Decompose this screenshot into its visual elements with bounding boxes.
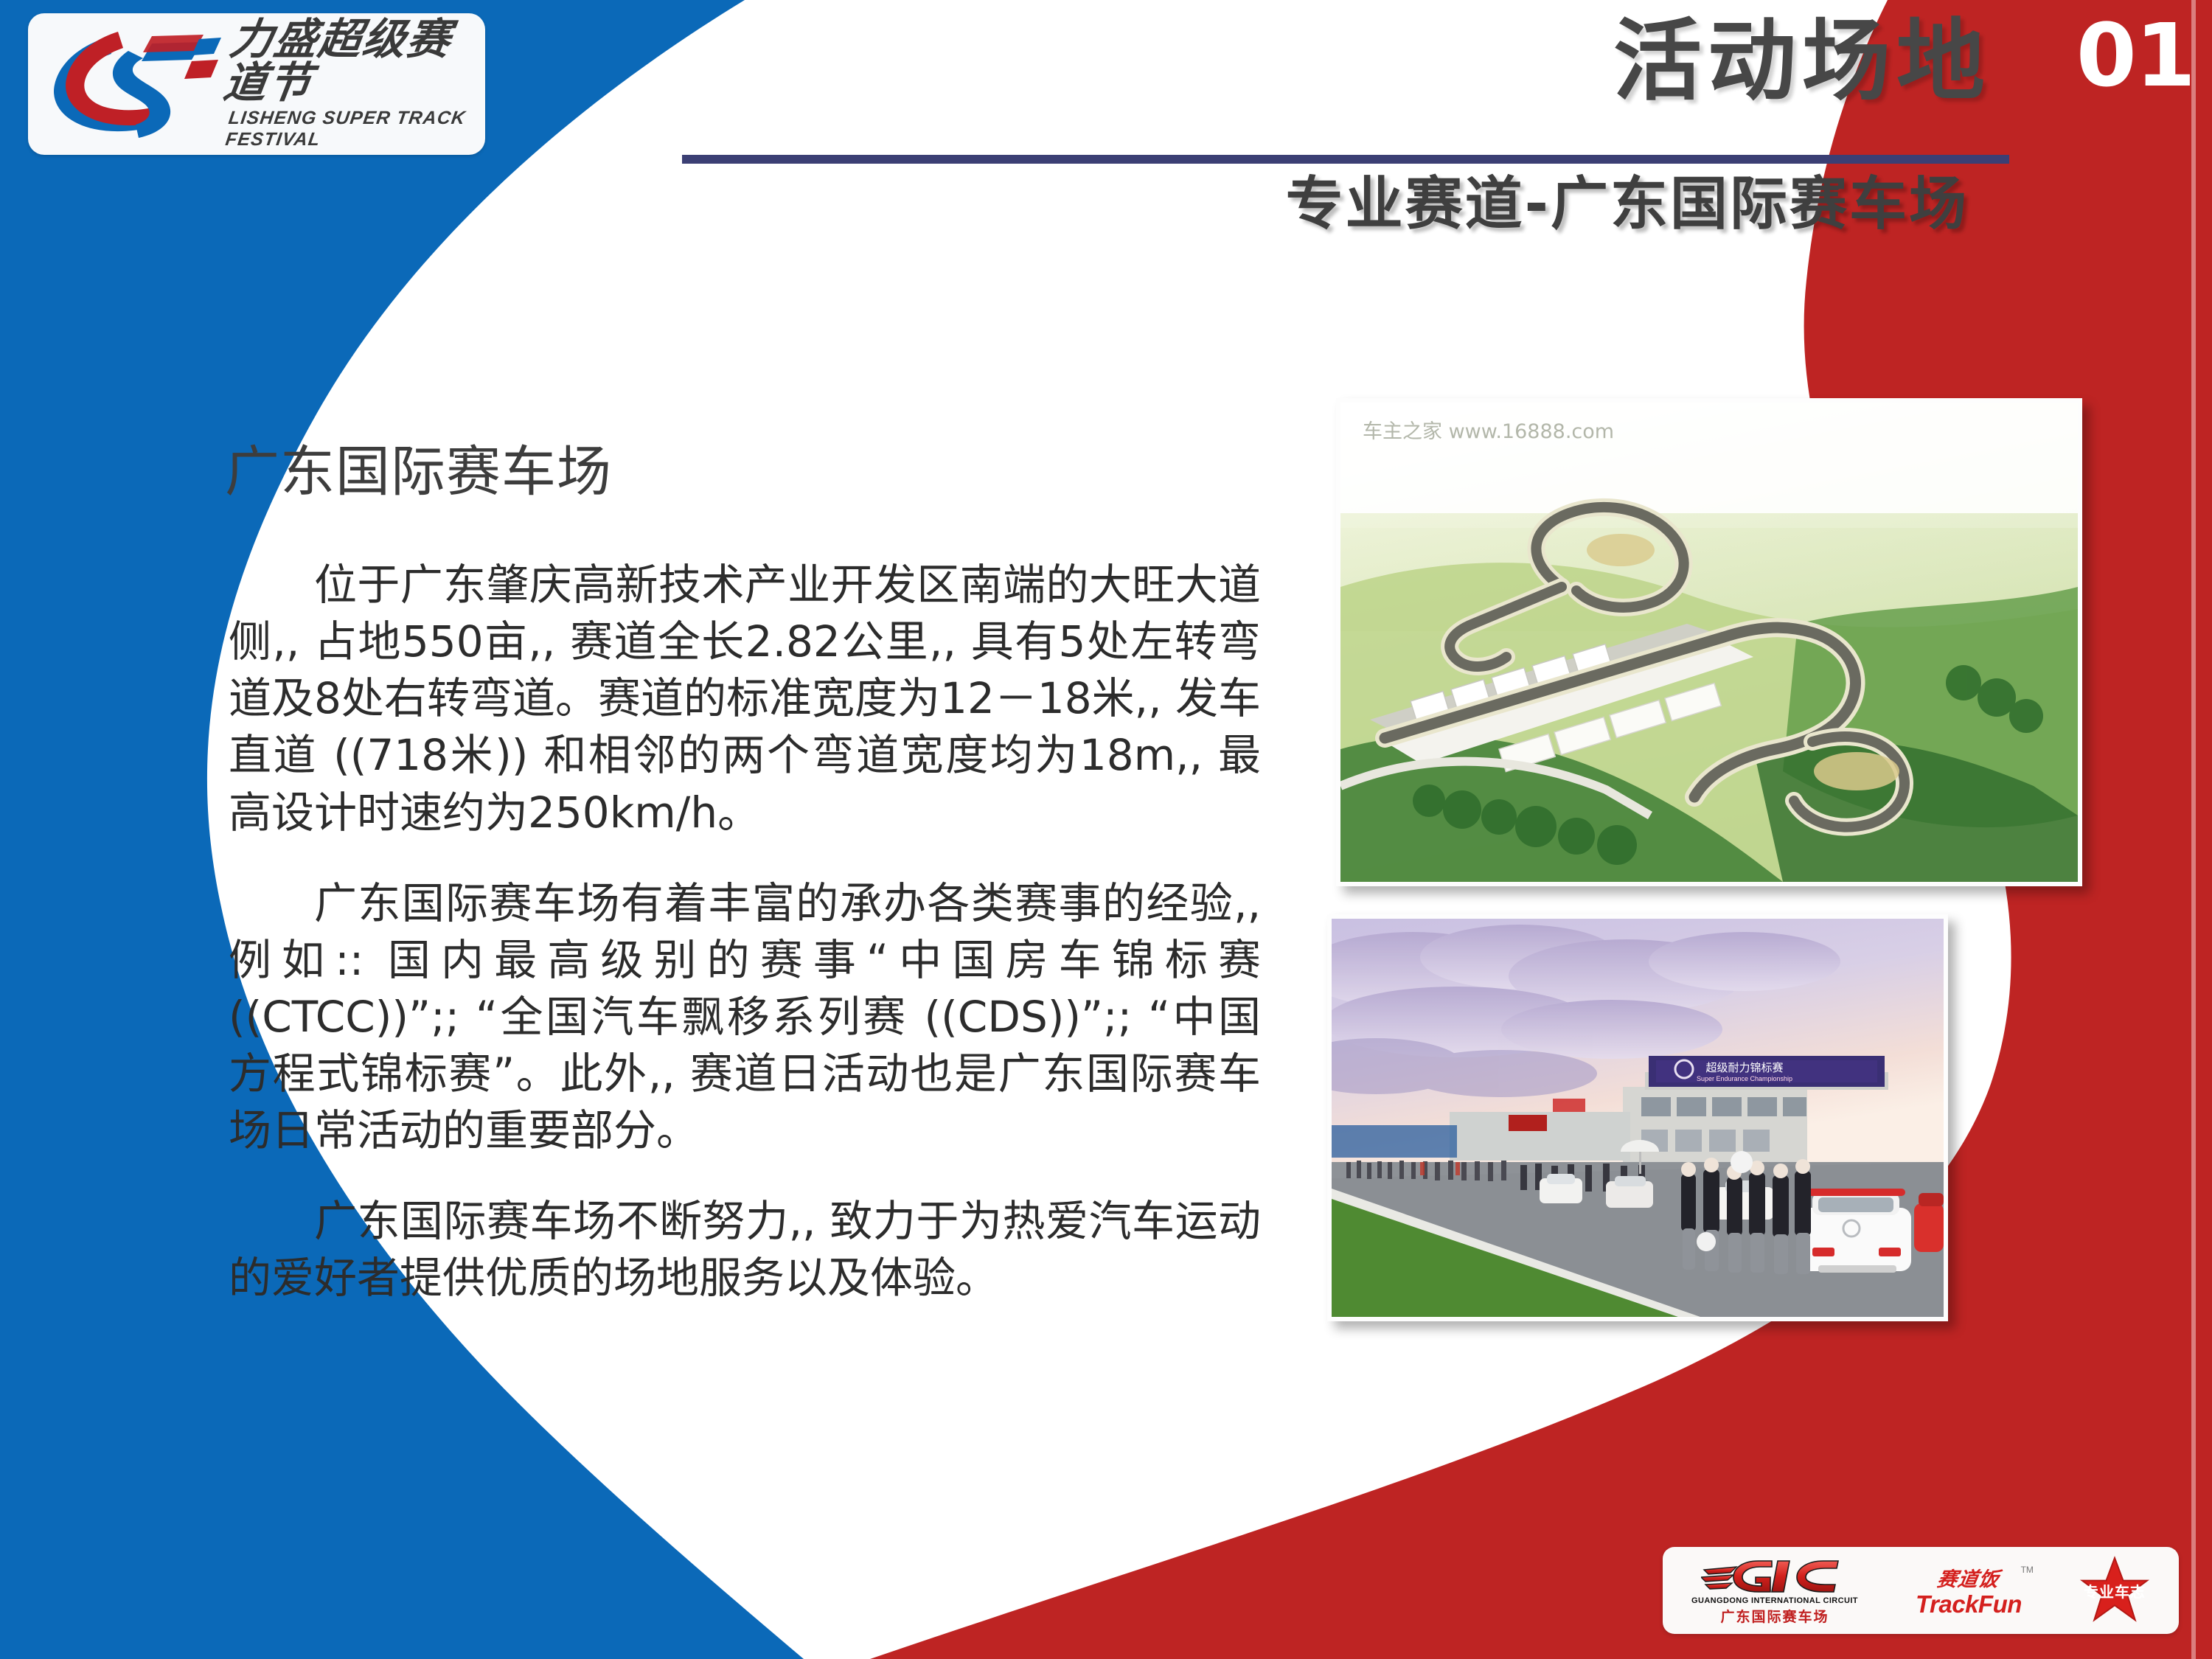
trademark-mark: TM — [2021, 1565, 2034, 1575]
title-divider-rule — [682, 155, 2009, 164]
gic-flame-icon — [1701, 1555, 1848, 1596]
banner-english-text: Super Endurance Championship — [1697, 1075, 1792, 1082]
gic-chinese-label: 广东国际赛车场 — [1720, 1606, 1829, 1626]
brand-logo: 力盛超级赛道节 LISHENG SUPER TRACK FESTIVAL — [28, 13, 485, 155]
sponsor-logo-bar: GUANGDONG INTERNATIONAL CIRCUIT 广东国际赛车场 … — [1663, 1547, 2179, 1634]
page-title: 活动场地 — [1613, 18, 1991, 106]
trackfun-chinese-label: 赛道饭 — [1935, 1563, 2002, 1592]
aerial-circuit-rendering: 车主之家 www.16888.com — [1336, 398, 2082, 886]
slide-canvas: 力盛超级赛道节 LISHENG SUPER TRACK FESTIVAL 活动场… — [0, 0, 2212, 1659]
zhuanye-chezhi-logo: 专业车志 — [2079, 1547, 2150, 1634]
paddock-grid-photo: 超级耐力锦标赛 Super Endurance Championship — [1327, 914, 1948, 1321]
paragraph-2: 广东国际赛车场有着丰富的承办各类赛事的经验,, 例如:: 国内最高级别的赛事“中… — [229, 875, 1261, 1160]
paragraph-1: 位于广东肇庆高新技术产业开发区南端的大旺大道侧,, 占地550亩,, 赛道全长2… — [229, 557, 1261, 841]
logo-english-name: LISHENG SUPER TRACK FESTIVAL — [224, 108, 488, 150]
logo-chinese-name: 力盛超级赛道节 — [221, 18, 492, 105]
banner-chinese-text: 超级耐力锦标赛 — [1705, 1061, 1783, 1074]
page-subtitle: 专业赛道-广东国际赛车场 — [1286, 175, 1969, 233]
paddock-illustration: 超级耐力锦标赛 Super Endurance Championship — [1332, 919, 1944, 1317]
page-number-badge: 01 — [2076, 12, 2194, 99]
ls-monogram-icon — [41, 21, 226, 147]
zhuanye-chezhi-label: 专业车志 — [2084, 1580, 2146, 1601]
aerial-circuit-illustration: 车主之家 www.16888.com — [1340, 403, 2078, 882]
paragraph-3: 广东国际赛车场不断努力,, 致力于为热爱汽车运动的爱好者提供优质的场地服务以及体… — [229, 1193, 1261, 1307]
section-heading: 广东国际赛车场 — [225, 428, 612, 507]
trackfun-english-label: TrackFun — [1916, 1590, 2022, 1618]
photo-watermark: 车主之家 www.16888.com — [1363, 420, 1614, 443]
body-text-column: 位于广东肇庆高新技术产业开发区南端的大旺大道侧,, 占地550亩,, 赛道全长2… — [229, 557, 1261, 1341]
gic-logo: GUANGDONG INTERNATIONAL CIRCUIT 广东国际赛车场 — [1691, 1547, 1858, 1634]
gic-english-label: GUANGDONG INTERNATIONAL CIRCUIT — [1691, 1596, 1858, 1605]
trackfun-logo: 赛道饭 TrackFun TM — [1916, 1547, 2022, 1634]
logo-wordmark: 力盛超级赛道节 LISHENG SUPER TRACK FESTIVAL — [227, 18, 485, 150]
